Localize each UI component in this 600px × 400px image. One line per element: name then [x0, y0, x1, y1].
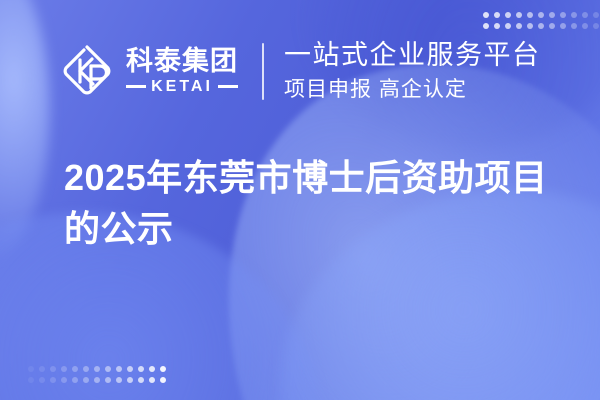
decor-dot: [83, 377, 89, 383]
decor-dot: [105, 366, 111, 372]
decor-dot: [39, 377, 45, 383]
decor-dot: [149, 366, 155, 372]
tagline-block: 一站式企业服务平台 项目申报 高企认定: [284, 39, 541, 103]
dot-row: [28, 377, 166, 383]
tagline-sub: 项目申报 高企认定: [284, 76, 541, 103]
decor-dot: [138, 366, 144, 372]
brand-dash-left: [126, 85, 146, 88]
decor-dot: [61, 366, 67, 372]
ketai-diamond-kp-logo-icon: [60, 44, 114, 98]
decor-dot: [72, 377, 78, 383]
announcement-banner: 科泰集团 KETAI 一站式企业服务平台 项目申报 高企认定 2025年东莞市博…: [0, 0, 600, 400]
decor-dot: [160, 377, 166, 383]
decor-dot: [50, 377, 56, 383]
decor-dot: [39, 366, 45, 372]
decor-dot: [105, 377, 111, 383]
banner-header: 科泰集团 KETAI 一站式企业服务平台 项目申报 高企认定: [0, 0, 600, 140]
tagline-main: 一站式企业服务平台: [284, 39, 541, 72]
decor-dot: [127, 377, 133, 383]
decor-dot: [28, 366, 34, 372]
brand-name-cn: 科泰集团: [126, 47, 238, 75]
decor-dot: [72, 366, 78, 372]
decor-dot: [116, 377, 122, 383]
brand-wordmark: 科泰集团 KETAI: [126, 47, 238, 94]
page-title: 2025年东莞市博士后资助项目的公示: [64, 152, 554, 254]
header-divider: [262, 43, 264, 100]
dot-row: [28, 366, 166, 372]
brand-name-en-row: KETAI: [126, 79, 238, 95]
decor-dot: [94, 366, 100, 372]
brand-name-en: KETAI: [151, 79, 213, 95]
decor-dot: [138, 377, 144, 383]
decor-dot: [83, 366, 89, 372]
decor-dot: [28, 377, 34, 383]
decor-dot: [50, 366, 56, 372]
decor-dot-grid-bottom-left: [28, 366, 166, 383]
decor-dot: [149, 377, 155, 383]
decor-dot: [94, 377, 100, 383]
decor-dot: [61, 377, 67, 383]
brand-dash-right: [218, 85, 238, 88]
decor-dot: [160, 366, 166, 372]
brand-logo[interactable]: 科泰集团 KETAI: [60, 44, 238, 98]
decor-dot: [116, 366, 122, 372]
decor-dot: [127, 366, 133, 372]
